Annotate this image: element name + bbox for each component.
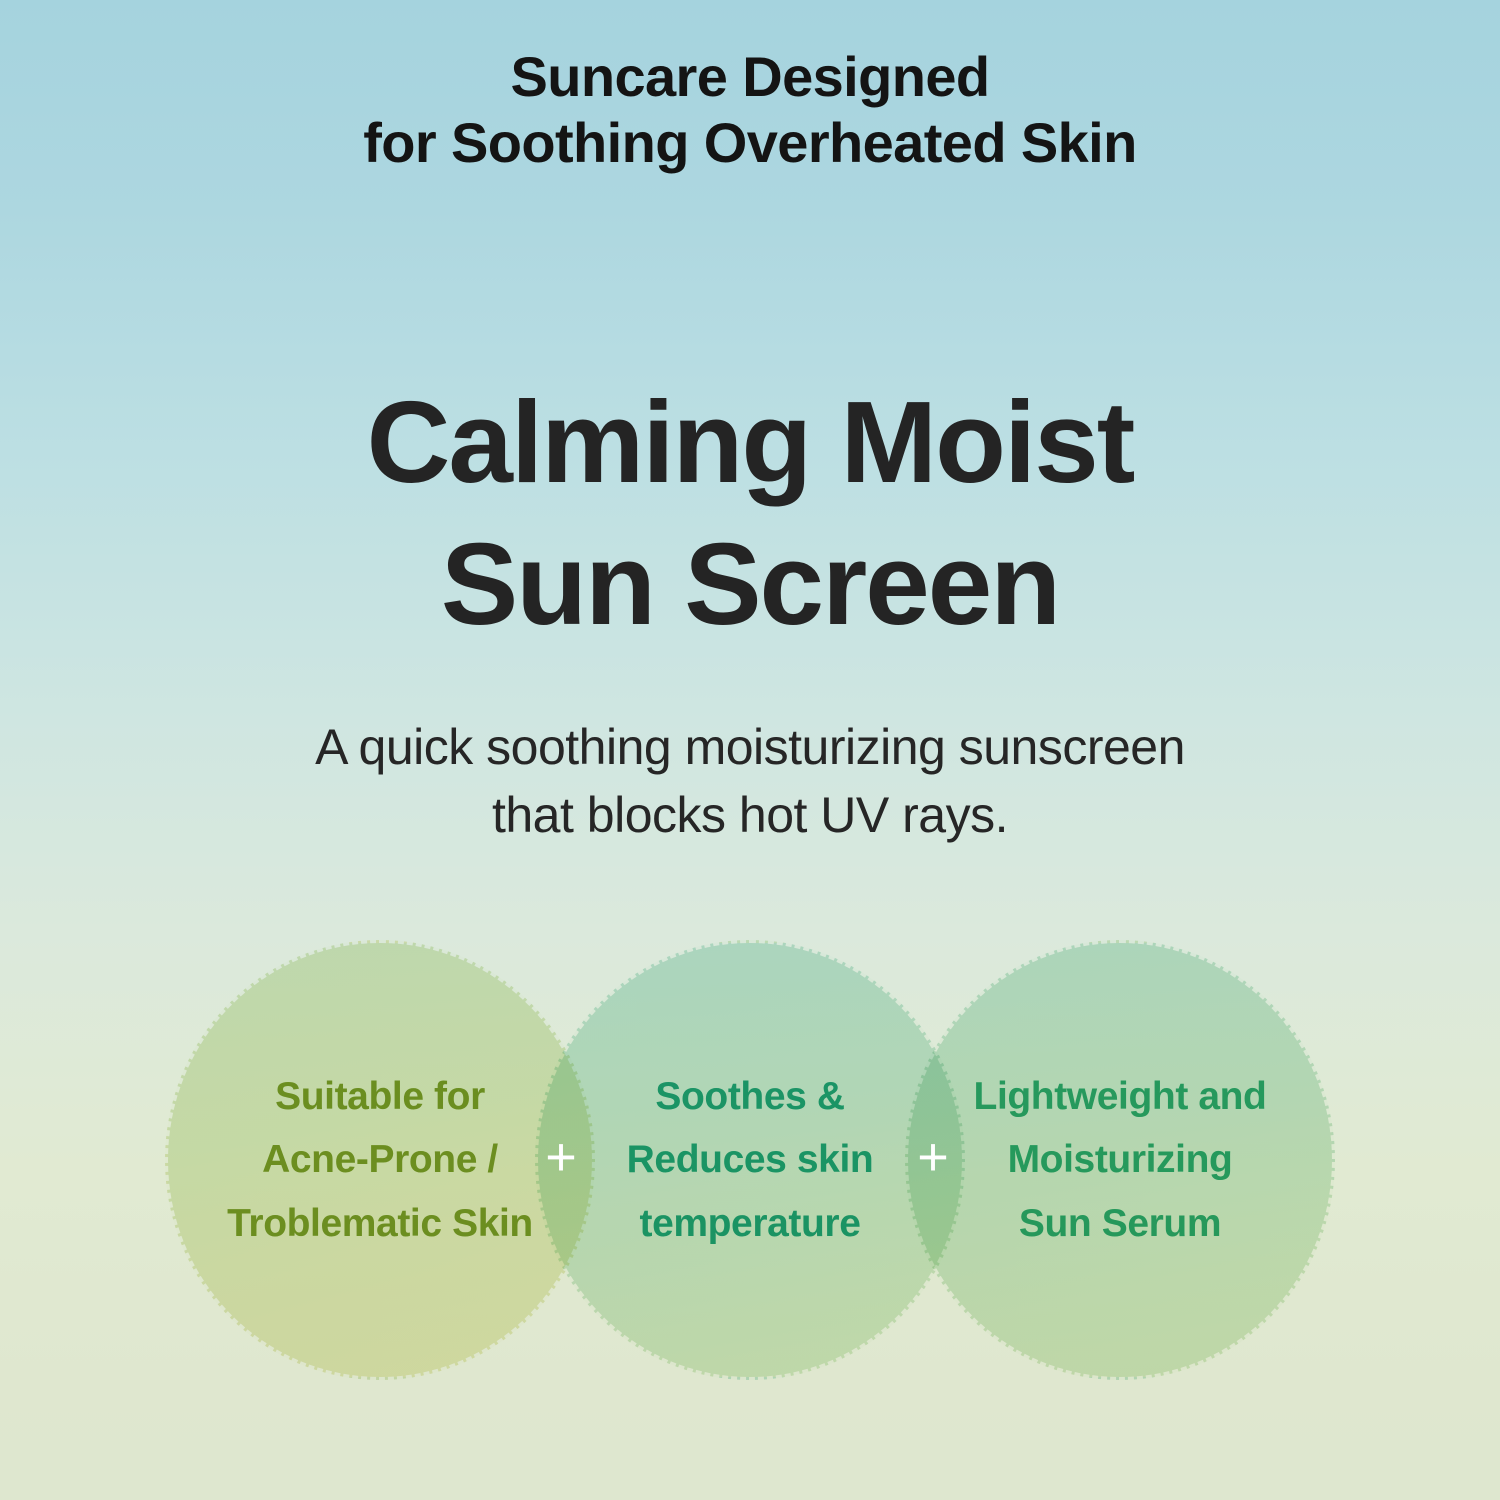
benefit-2-line-2: Reduces skin [564, 1128, 936, 1191]
benefit-circle-sun-serum: Lightweight and Moisturizing Sun Serum [905, 940, 1335, 1380]
plus-icon: + [534, 1130, 588, 1184]
benefit-circle-acne-prone: Suitable for Acne-Prone / Troblematic Sk… [165, 940, 595, 1380]
benefit-3-line-1: Lightweight and [934, 1065, 1306, 1128]
product-description-line-2: that blocks hot UV rays. [0, 781, 1500, 849]
benefit-1-line-2: Acne-Prone / [194, 1128, 566, 1191]
benefit-circle-sun-serum-text: Lightweight and Moisturizing Sun Serum [908, 1065, 1332, 1255]
benefit-3-line-3: Sun Serum [934, 1192, 1306, 1255]
benefits-venn-diagram: Suitable for Acne-Prone / Troblematic Sk… [0, 940, 1500, 1440]
benefit-1-line-3: Troblematic Skin [194, 1192, 566, 1255]
benefit-circle-acne-prone-text: Suitable for Acne-Prone / Troblematic Sk… [168, 1065, 592, 1255]
product-title-line-1: Calming Moist [0, 372, 1500, 514]
plus-icon: + [906, 1130, 960, 1184]
benefit-circle-soothes-temperature: Soothes & Reduces skin temperature [535, 940, 965, 1380]
benefit-circle-soothes-temperature-text: Soothes & Reduces skin temperature [538, 1065, 962, 1255]
product-title: Calming Moist Sun Screen [0, 372, 1500, 655]
eyebrow-heading: Suncare Designed for Soothing Overheated… [0, 44, 1500, 176]
benefit-1-line-1: Suitable for [194, 1065, 566, 1128]
product-promo-poster: Suncare Designed for Soothing Overheated… [0, 0, 1500, 1500]
eyebrow-line-2: for Soothing Overheated Skin [0, 110, 1500, 176]
benefit-3-line-2: Moisturizing [934, 1128, 1306, 1191]
product-description: A quick soothing moisturizing sunscreen … [0, 713, 1500, 849]
product-title-line-2: Sun Screen [0, 514, 1500, 656]
benefit-2-line-3: temperature [564, 1192, 936, 1255]
benefit-2-line-1: Soothes & [564, 1065, 936, 1128]
product-description-line-1: A quick soothing moisturizing sunscreen [0, 713, 1500, 781]
eyebrow-line-1: Suncare Designed [0, 44, 1500, 110]
